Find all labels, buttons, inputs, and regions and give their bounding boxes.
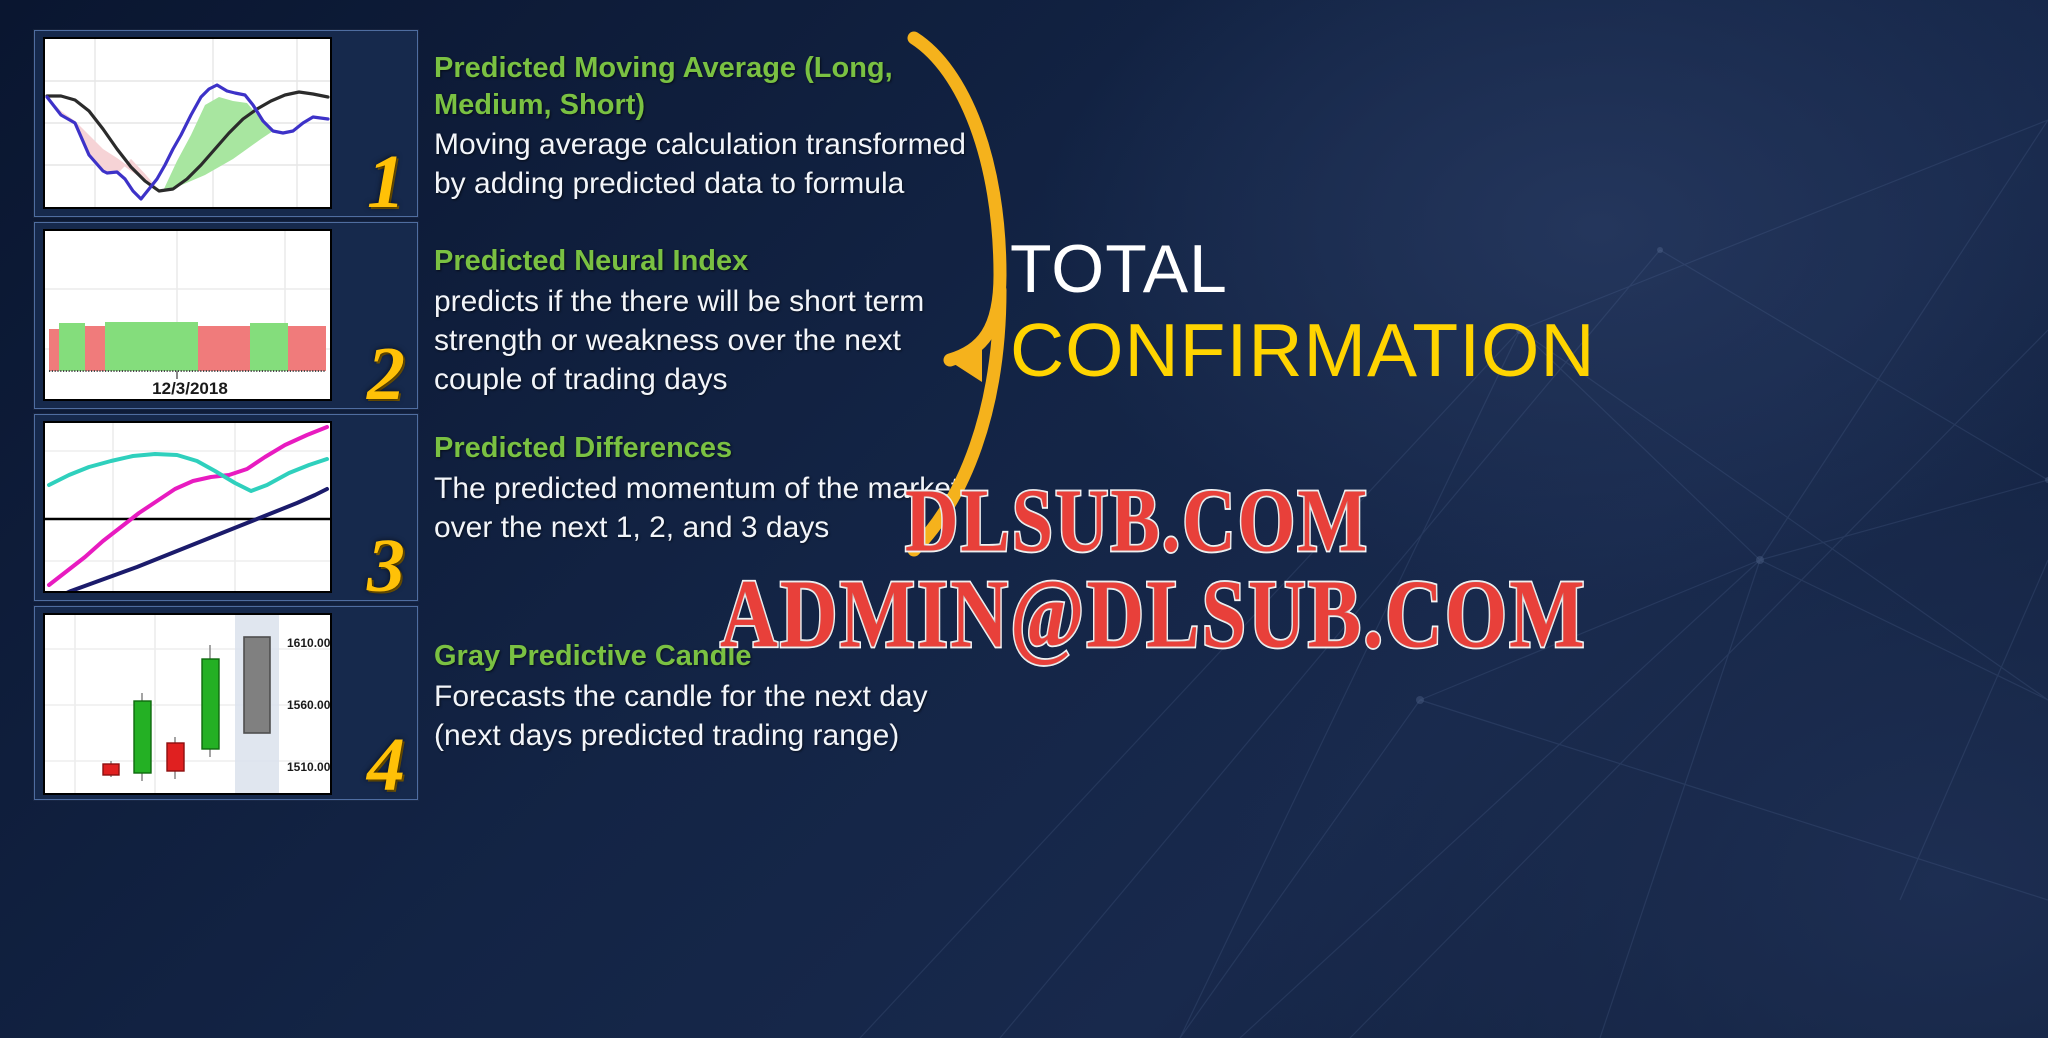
- differences-plot: [45, 423, 330, 591]
- chart-panel-3: 3: [34, 414, 418, 601]
- moving-average-plot: [45, 39, 330, 207]
- infographic-canvas: 1: [0, 0, 2048, 1038]
- chart-panel-4: 1610.00 1560.00 1510.00 4: [34, 606, 418, 800]
- candle-2: [134, 701, 151, 773]
- predicted-candle: [244, 637, 270, 733]
- neural-index-plot: 12/3/2018: [45, 231, 330, 399]
- predicted-differences-chart: [43, 421, 332, 593]
- feature-number-4: 4: [367, 727, 405, 803]
- feature-number-1: 1: [367, 144, 405, 220]
- candlestick-plot: 1610.00 1560.00 1510.00: [45, 615, 330, 793]
- gray-predictive-candle-chart: 1610.00 1560.00 1510.00: [43, 613, 332, 795]
- candle-1: [103, 764, 119, 775]
- watermark-site: DLSUB.COM: [905, 470, 1369, 574]
- headline-line-2: CONFIRMATION: [1010, 310, 2020, 391]
- predicted-moving-average-chart: [43, 37, 332, 209]
- headline: TOTAL CONFIRMATION: [1010, 235, 2020, 391]
- feature-number-2: 2: [367, 336, 405, 412]
- neural-index-bands: [49, 322, 326, 371]
- feature-number-3: 3: [367, 528, 405, 604]
- chart-panel-2: 12/3/2018 2: [34, 222, 418, 409]
- predicted-neural-index-chart: 12/3/2018: [43, 229, 332, 401]
- price-tick-1560: 1560.00: [287, 698, 330, 712]
- candle-3: [167, 743, 184, 771]
- candle-4: [202, 659, 219, 749]
- brace-arrow-head: [948, 336, 982, 382]
- neural-index-date-label: 12/3/2018: [152, 379, 228, 398]
- headline-line-1: TOTAL: [1010, 235, 2020, 304]
- price-tick-1510: 1510.00: [287, 760, 330, 774]
- price-tick-1610: 1610.00: [287, 636, 330, 650]
- feature-body-4: Forecasts the candle for the next day (n…: [434, 677, 979, 756]
- chart-panel-1: 1: [34, 30, 418, 217]
- watermark-email: ADMIN@DLSUB.COM: [720, 560, 1587, 671]
